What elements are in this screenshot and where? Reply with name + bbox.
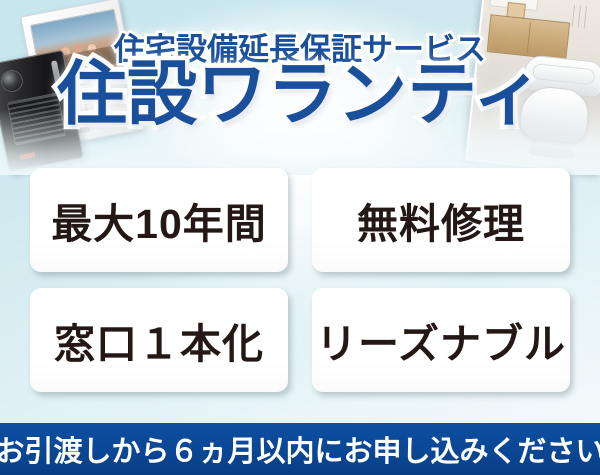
feature-box-max-years: 最大10年間 — [30, 168, 288, 272]
service-title: 住設ワランティ — [0, 58, 600, 130]
feature-label: 窓口１本化 — [54, 310, 264, 370]
feature-label: 最大10年間 — [51, 190, 267, 250]
feature-box-grid: 最大10年間 無料修理 窓口１本化 リーズナブル — [30, 168, 570, 404]
promo-banner: 住宅設備延長保証サービス 住設ワランティ 最大10年間 無料修理 窓口１本化 リ… — [0, 0, 600, 475]
feature-label: 無料修理 — [357, 190, 525, 250]
title-block: 住宅設備延長保証サービス 住設ワランティ — [0, 0, 600, 160]
feature-box-single-contact: 窓口１本化 — [30, 288, 288, 392]
cta-text: お引渡しから６ヵ月以内にお申し込みください — [0, 428, 600, 470]
feature-box-reasonable: リーズナブル — [312, 288, 570, 392]
feature-label: リーズナブル — [316, 310, 566, 370]
feature-box-free-repair: 無料修理 — [312, 168, 570, 272]
cta-bar: お引渡しから６ヵ月以内にお申し込みください — [0, 423, 600, 475]
